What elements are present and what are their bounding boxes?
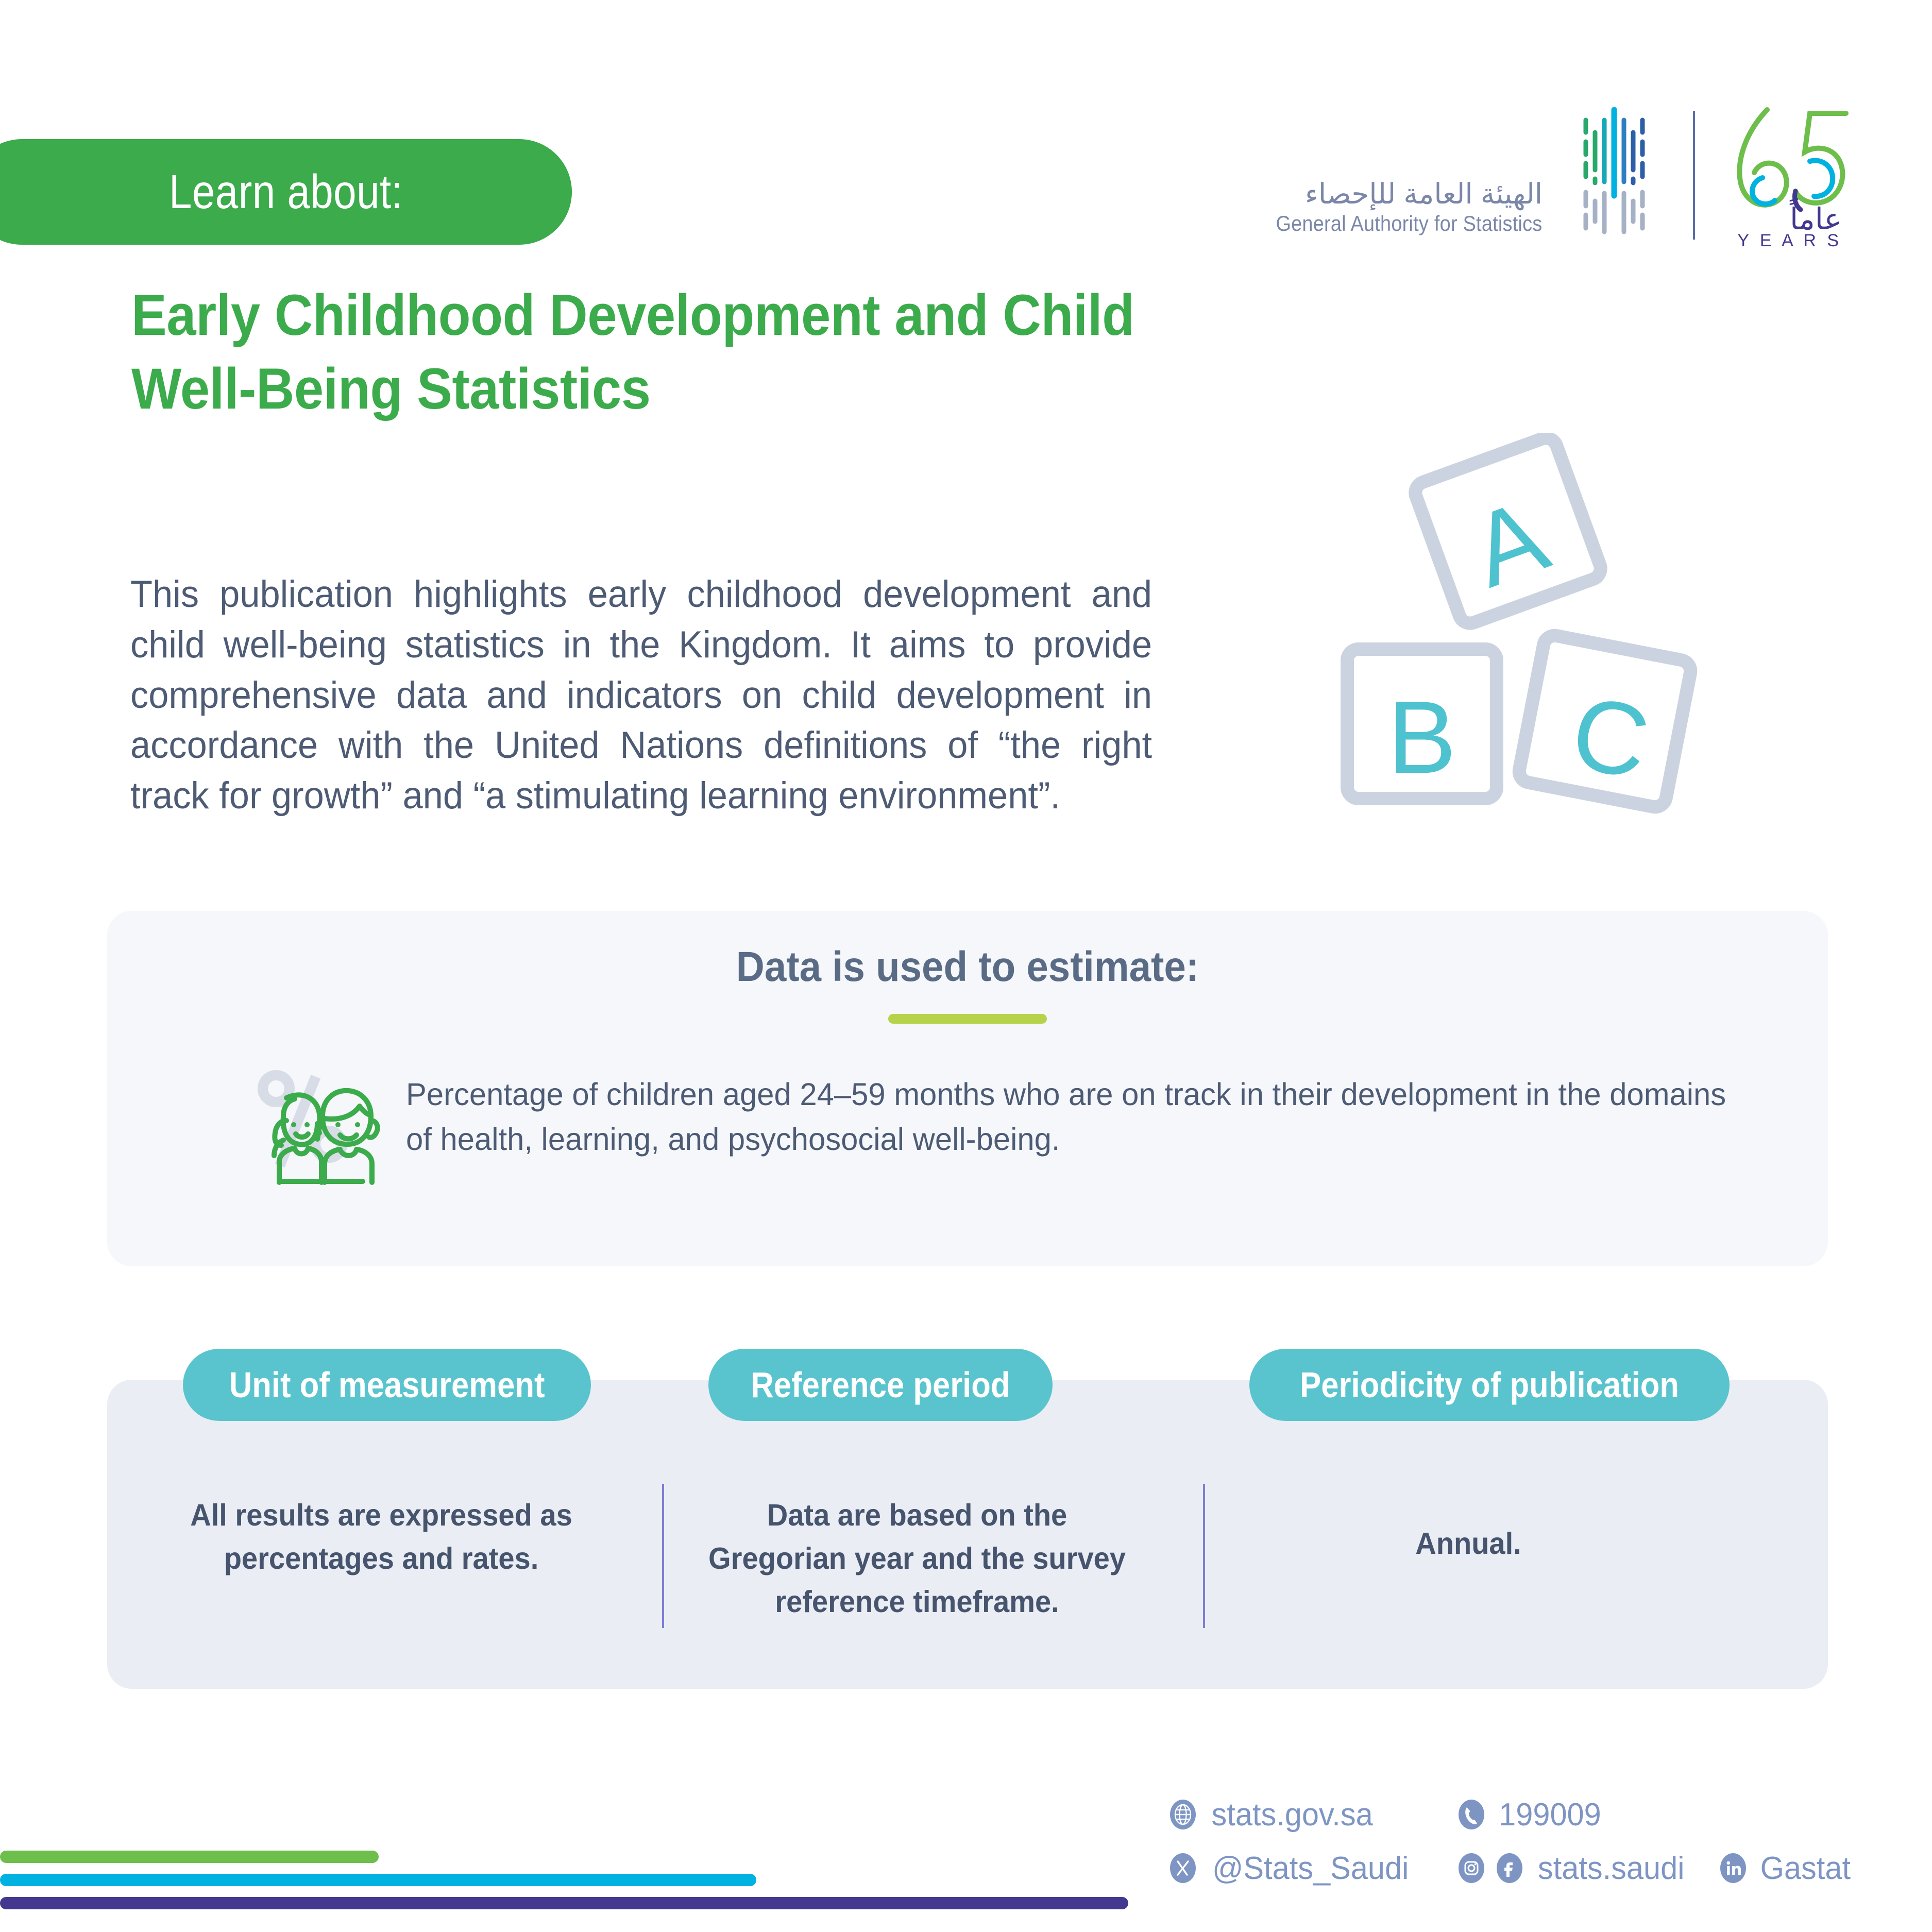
anniversary-number-icon: عاماً Y E A R S [1718, 100, 1860, 250]
info-column-body: Annual. [1248, 1522, 1689, 1566]
block-letter-a: A [1458, 478, 1562, 609]
contact-phone-label: 199009 [1499, 1797, 1601, 1833]
estimate-heading: Data is used to estimate: [167, 943, 1768, 991]
estimate-item: Percentage of children aged 24–59 months… [107, 1063, 1828, 1191]
block-letter-b: B [1387, 680, 1456, 795]
info-pill-reference-period: Reference period [708, 1349, 1053, 1421]
column-divider [1203, 1484, 1205, 1628]
facebook-icon [1494, 1852, 1526, 1884]
estimate-item-text: Percentage of children aged 24–59 months… [406, 1063, 1739, 1161]
block-letter-c: C [1563, 674, 1657, 801]
estimate-card: Data is used to estimate: [107, 911, 1828, 1266]
instagram-icon [1455, 1852, 1487, 1884]
phone-icon [1455, 1799, 1487, 1831]
column-divider [662, 1484, 664, 1628]
contact-website[interactable]: stats.gov.sa [1167, 1797, 1455, 1833]
contact-social-accounts[interactable]: stats.saudi [1455, 1850, 1687, 1887]
decorative-line-green [0, 1851, 379, 1863]
globe-icon [1167, 1799, 1199, 1831]
info-pill-periodicity-of-publication: Periodicity of publication [1249, 1349, 1730, 1421]
contact-linkedin-label: Gastat [1760, 1850, 1851, 1887]
contact-website-label: stats.gov.sa [1212, 1797, 1373, 1833]
info-pill-unit-of-measurement: Unit of measurement [183, 1349, 591, 1421]
info-column-body: Data are based on the Gregorian year and… [697, 1494, 1138, 1623]
anniversary-years-label: Y E A R S [1737, 231, 1842, 250]
decorative-line-cyan [0, 1874, 756, 1886]
estimate-underline [888, 1014, 1047, 1024]
gastat-logo: الهيئة العامة للإحصاء General Authority … [1246, 100, 1860, 250]
info-pill-label: Unit of measurement [229, 1364, 545, 1405]
gastat-arabic-name: الهيئة العامة للإحصاء [1246, 176, 1543, 212]
intro-paragraph: This publication highlights early childh… [130, 569, 1152, 821]
contact-linkedin[interactable]: Gastat [1717, 1850, 1853, 1887]
abc-blocks-illustration: A B C [1324, 433, 1736, 824]
x-twitter-icon [1167, 1852, 1199, 1884]
page-title: Early Childhood Development and Child We… [131, 278, 1212, 426]
contact-row-bottom: @Stats_Saudi stats.saudi Gastat [1167, 1841, 1853, 1895]
anniversary-arabic-label: عاماً [1790, 198, 1842, 236]
info-pill-label: Reference period [751, 1364, 1010, 1405]
contact-phone[interactable]: 199009 [1455, 1797, 1603, 1833]
info-column-body: All results are expressed as percentages… [166, 1494, 597, 1581]
contact-row-top: stats.gov.sa 199009 [1167, 1788, 1853, 1841]
learn-about-banner: Learn about: [0, 139, 572, 245]
learn-about-label: Learn about: [169, 164, 403, 219]
gastat-logo-text: الهيئة العامة للإحصاء General Authority … [1246, 114, 1559, 236]
decorative-line-purple [0, 1897, 1128, 1909]
logo-divider [1693, 111, 1695, 240]
gastat-english-name: General Authority for Statistics [1276, 211, 1543, 236]
footer-contacts: stats.gov.sa 199009 @Stats_Saudi [1167, 1788, 1853, 1895]
info-pill-label: Periodicity of publication [1300, 1364, 1679, 1405]
contact-x-twitter-label: @Stats_Saudi [1212, 1850, 1409, 1887]
two-children-percent-icon [257, 1067, 385, 1191]
gastat-symbol-icon [1559, 100, 1670, 250]
contact-social-label: stats.saudi [1538, 1850, 1685, 1887]
linkedin-icon [1717, 1852, 1749, 1884]
contact-x-twitter[interactable]: @Stats_Saudi [1167, 1850, 1455, 1887]
anniversary-65-logo: عاماً Y E A R S [1718, 100, 1860, 250]
